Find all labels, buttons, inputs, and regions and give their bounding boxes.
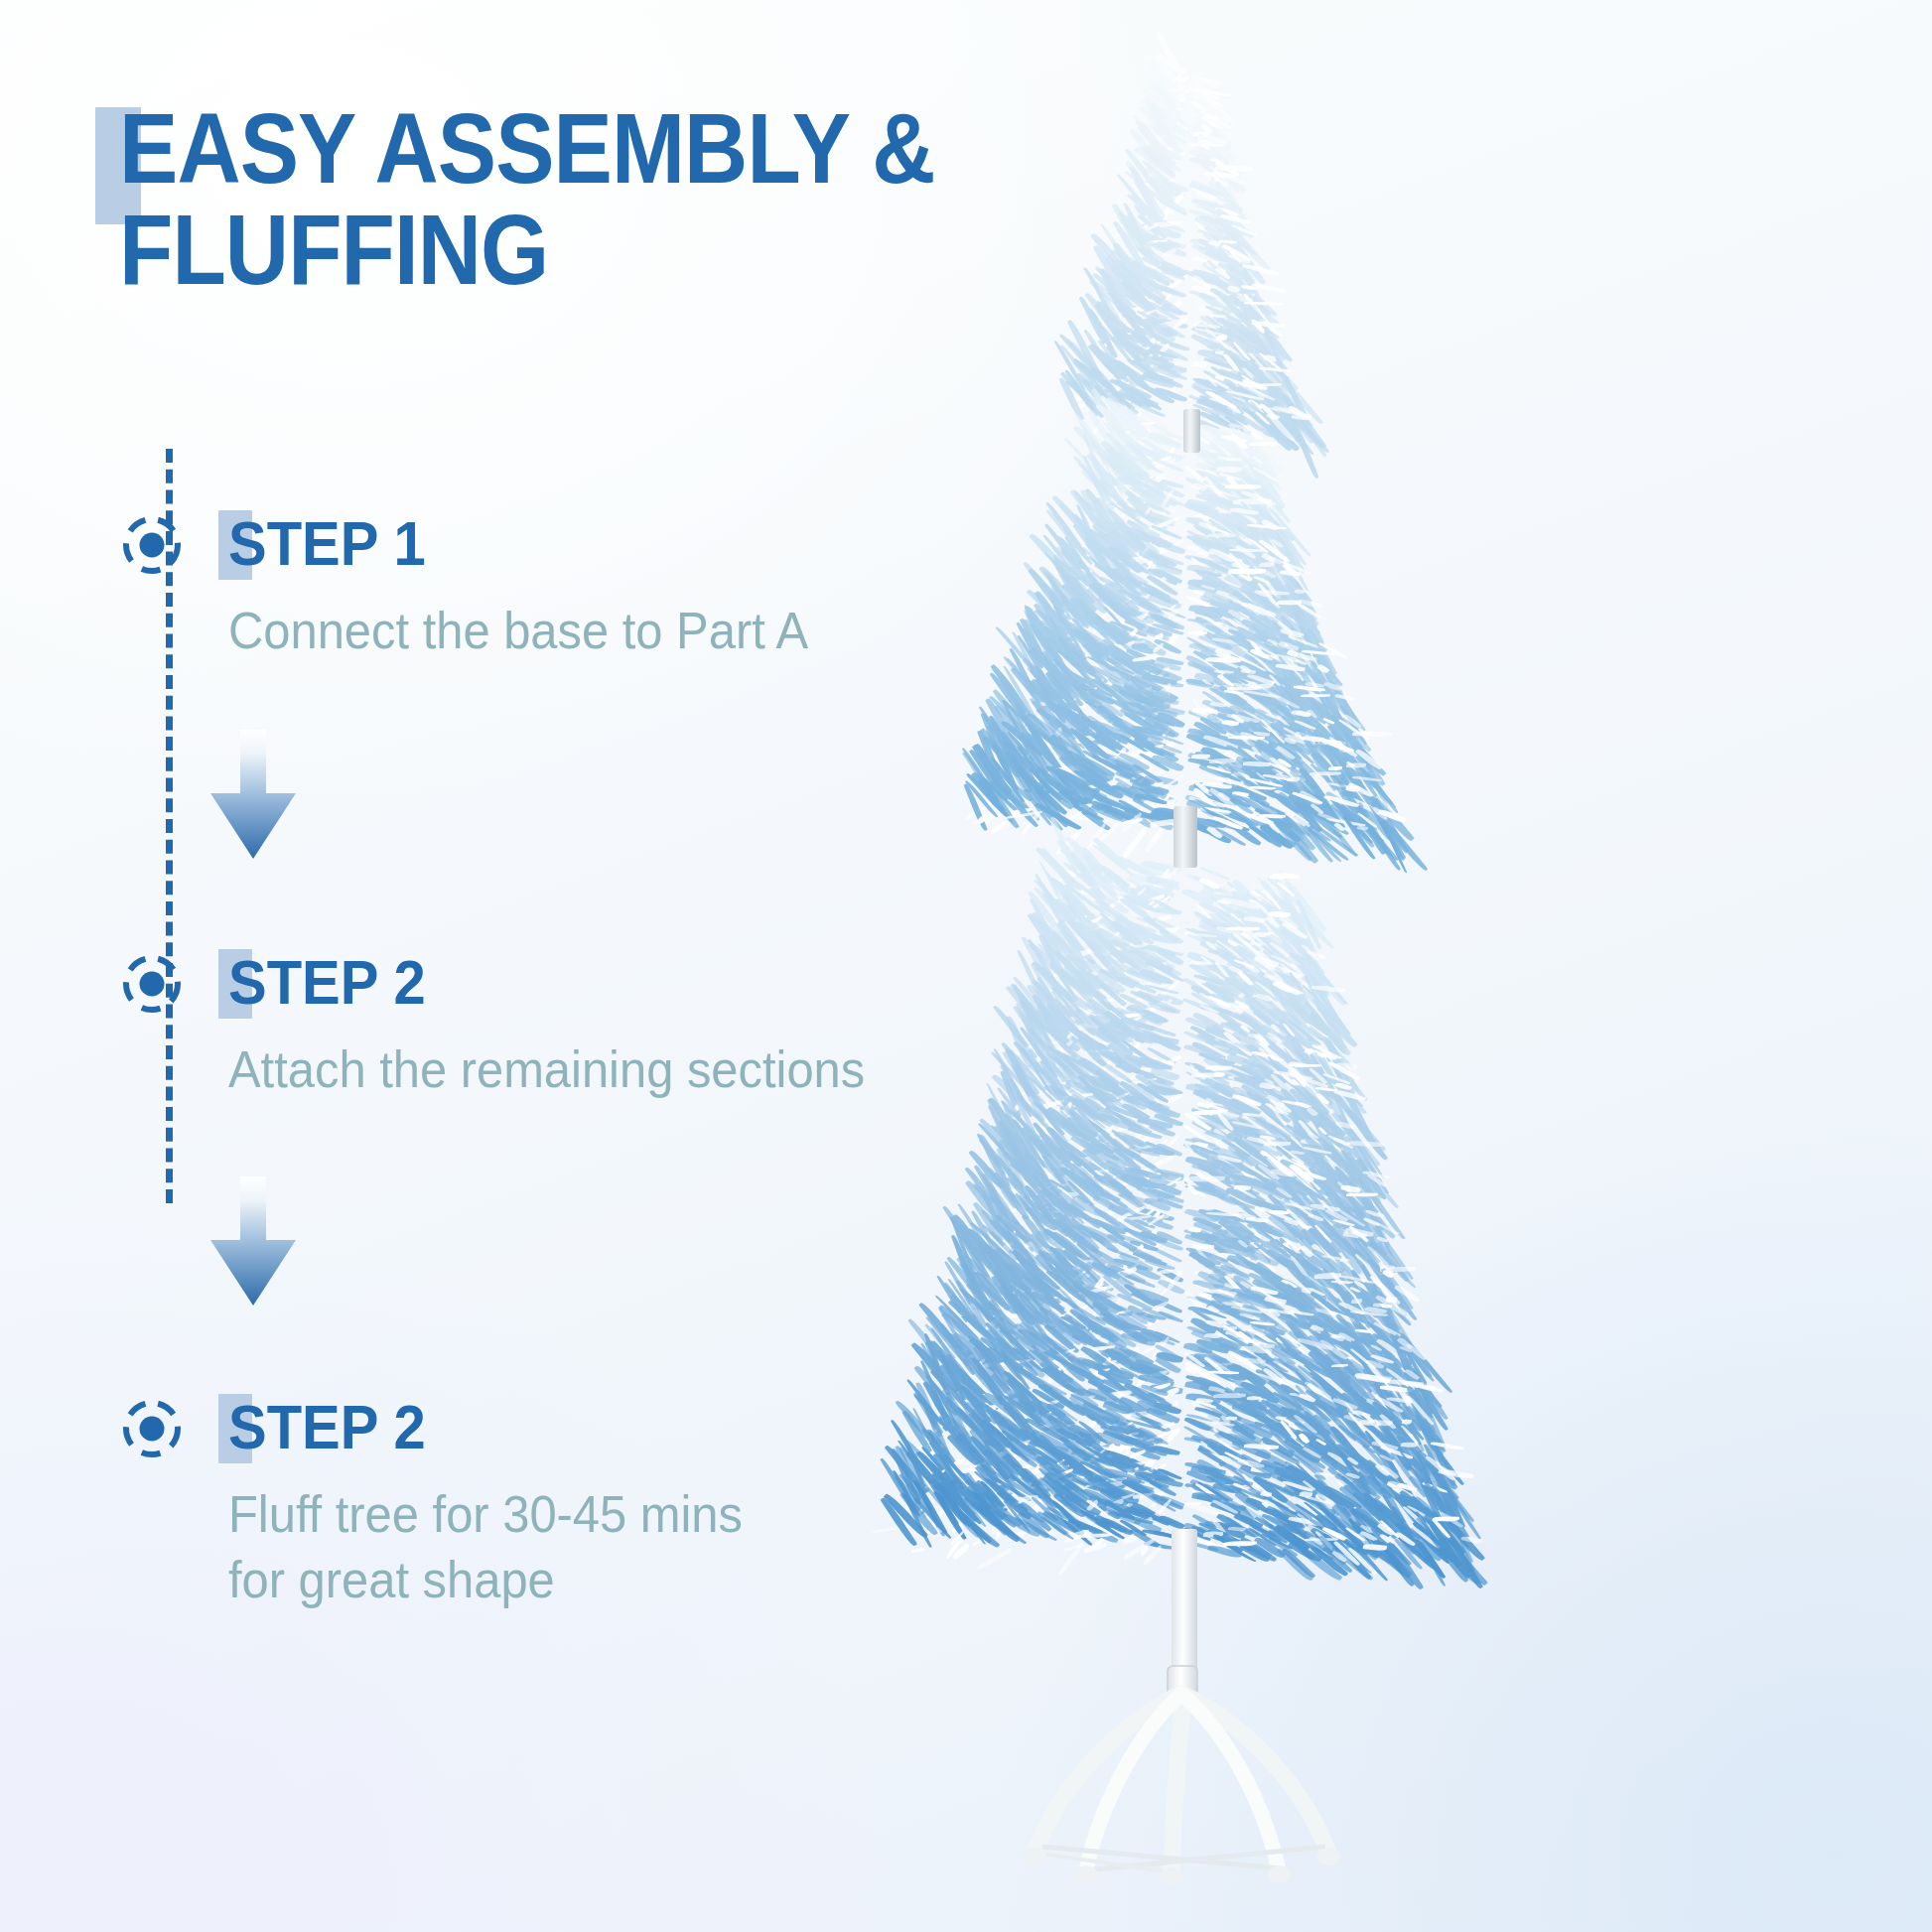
title-line-1: EASY ASSEMBLY & [119,97,871,199]
tree-frost-fleck [1186,1502,1201,1505]
tree-stand [983,1658,1380,1906]
tree-frost-fleck [1249,442,1278,447]
product-image [923,0,1932,1932]
tree-trunk-middle [1173,806,1197,868]
step-1-description: Connect the base to Part A [228,598,808,663]
tree-frost-fleck [1301,694,1330,697]
tree-frost-fleck [1351,1299,1362,1304]
tree-frost-fleck [1277,600,1302,605]
tree-frost-fleck [1144,828,1166,852]
tree-frost-fleck [1233,498,1272,504]
tree-middle-section [923,429,1932,826]
step-1-label: STEP 1 [228,506,426,580]
step-3-description-line-1: Fluff tree for 30-45 mins [228,1481,743,1547]
tree-frost-fleck [989,820,1009,835]
step-3-description-line-2: for great shape [228,1547,555,1612]
tree-frost-fleck [976,1548,1013,1570]
step-2-label: STEP 2 [228,945,426,1019]
target-dot-icon [119,512,185,578]
title-line-2: FLUFFING [119,199,871,300]
tree-frost-fleck [1228,568,1266,575]
tree-trunk-top [1183,409,1200,453]
target-dot-icon [119,1396,185,1461]
tree-top-section [923,77,1932,417]
tree-frost-fleck [1346,762,1366,767]
page-title: EASY ASSEMBLY & FLUFFING [119,97,973,300]
target-dot-icon [119,951,185,1017]
instructions-column: EASY ASSEMBLY & FLUFFING STEP 1 Connect … [0,0,1003,1932]
tree-frost-fleck [1121,827,1149,859]
step-2-description: Attach the remaining sections [228,1036,865,1102]
step-3-label: STEP 2 [228,1390,426,1463]
infographic-canvas: EASY ASSEMBLY & FLUFFING STEP 1 Connect … [0,0,1932,1932]
tree-frost-fleck [1310,771,1341,775]
tree-bottom-section [923,874,1932,1549]
